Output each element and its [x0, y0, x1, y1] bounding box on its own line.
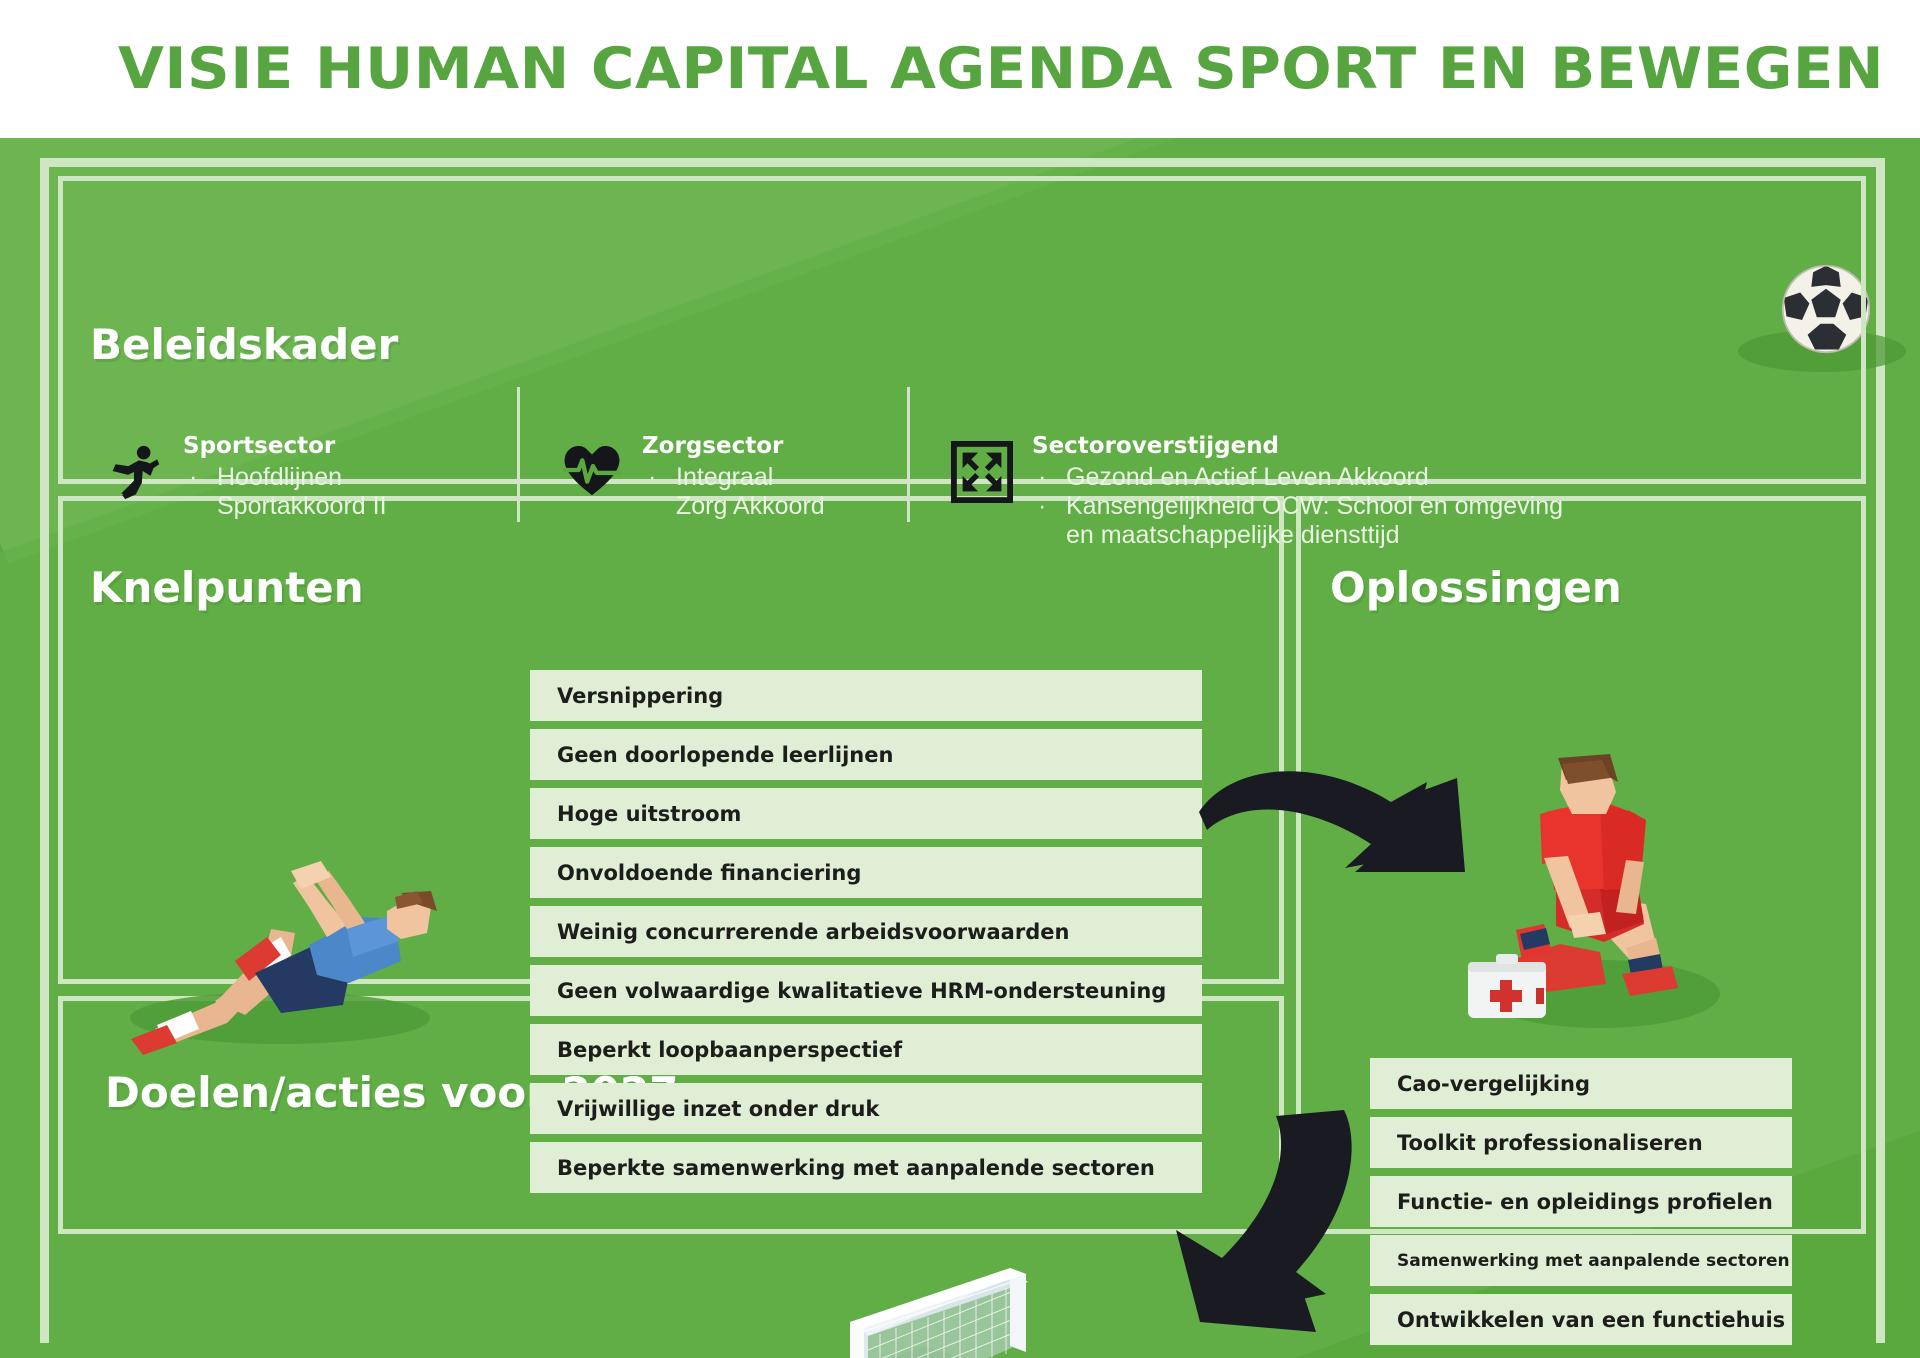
heading-oplossingen: Oplossingen — [1330, 563, 1622, 612]
bullet-dot-icon: · — [1032, 492, 1066, 521]
bullet-dot-icon: · — [1032, 463, 1066, 492]
infographic-page: VISIE HUMAN CAPITAL AGENDA SPORT EN BEWE… — [0, 0, 1920, 1358]
title-bar: VISIE HUMAN CAPITAL AGENDA SPORT EN BEWE… — [0, 0, 1920, 138]
heading-knelpunten: Knelpunten — [90, 563, 364, 612]
sector-bullet-text: Kansengelijkheid OCW: School en omgeving… — [1066, 492, 1563, 550]
oplossing-item[interactable]: Samenwerking met aanpalende sectoren — [1370, 1235, 1792, 1286]
sector-column-zorgsector: Zorgsector · Integraal Zorg Akkoord — [520, 433, 910, 521]
sector-bullet: · Hoofdlijnen Sportakkoord II — [183, 463, 387, 521]
sector-title-sportsector: Sportsector — [183, 433, 387, 459]
sector-column-sportsector: Sportsector · Hoofdlijnen Sportakkoord I… — [95, 433, 520, 521]
sector-bullet: · Integraal Zorg Akkoord — [642, 463, 825, 521]
knelpunt-item[interactable]: Beperkt loopbaanperspectief — [530, 1024, 1202, 1075]
expand-arrows-icon — [944, 441, 1020, 503]
knelpunten-list: Versnippering Geen doorlopende leerlijne… — [530, 670, 1202, 1201]
oplossing-item[interactable]: Cao-vergelijking — [1370, 1058, 1792, 1109]
knelpunt-item[interactable]: Geen volwaardige kwalitatieve HRM-onders… — [530, 965, 1202, 1016]
knelpunt-item[interactable]: Versnippering — [530, 670, 1202, 721]
field-background: Beleidskader Knelpunten Oplossingen Doel… — [0, 138, 1920, 1358]
curved-arrow-down-icon — [1148, 1100, 1398, 1355]
oplossingen-list: Cao-vergelijking Toolkit professionalise… — [1370, 1058, 1792, 1353]
knelpunt-item[interactable]: Geen doorlopende leerlijnen — [530, 729, 1202, 780]
sector-body-sportsector: Sportsector · Hoofdlijnen Sportakkoord I… — [171, 433, 387, 521]
knelpunt-item[interactable]: Onvoldoende financiering — [530, 847, 1202, 898]
knelpunt-item[interactable]: Hoge uitstroom — [530, 788, 1202, 839]
knelpunt-item[interactable]: Vrijwillige inzet onder druk — [530, 1083, 1202, 1134]
oplossing-item[interactable]: Ontwikkelen van een functiehuis — [1370, 1294, 1792, 1345]
sector-column-sectoroverstijgend: Sectoroverstijgend · Gezond en Actief Le… — [910, 433, 1810, 549]
sector-bullet: · Kansengelijkheid OCW: School en omgevi… — [1032, 492, 1563, 550]
sector-bullet: · Gezond en Actief Leven Akkoord — [1032, 463, 1563, 492]
oplossing-item[interactable]: Toolkit professionaliseren — [1370, 1117, 1792, 1168]
heart-pulse-icon — [554, 441, 630, 499]
sector-title-zorgsector: Zorgsector — [642, 433, 825, 459]
athlete-kneeling-with-first-aid-kit-illustration — [1450, 748, 1740, 1053]
sector-title-sectoroverstijgend: Sectoroverstijgend — [1032, 433, 1563, 459]
sector-bullet-text: Hoofdlijnen Sportakkoord II — [217, 463, 387, 521]
sector-body-zorgsector: Zorgsector · Integraal Zorg Akkoord — [630, 433, 825, 521]
sector-body-sectoroverstijgend: Sectoroverstijgend · Gezond en Actief Le… — [1020, 433, 1563, 549]
knelpunt-item[interactable]: Beperkte samenwerking met aanpalende sec… — [530, 1142, 1202, 1193]
soccer-goal-illustration — [828, 1260, 1048, 1358]
bullet-dot-icon: · — [642, 463, 676, 492]
running-person-icon — [95, 441, 171, 503]
page-title: VISIE HUMAN CAPITAL AGENDA SPORT EN BEWE… — [118, 36, 1884, 102]
beleidskader-sectors: Sportsector · Hoofdlijnen Sportakkoord I… — [95, 433, 1855, 563]
sector-bullet-text: Gezond en Actief Leven Akkoord — [1066, 463, 1429, 492]
oplossing-item[interactable]: Functie- en opleidings profielen — [1370, 1176, 1792, 1227]
heading-beleidskader: Beleidskader — [90, 320, 398, 369]
athlete-doing-situps-illustration — [95, 833, 445, 1063]
bullet-dot-icon: · — [183, 463, 217, 492]
knelpunt-item[interactable]: Weinig concurrerende arbeidsvoorwaarden — [530, 906, 1202, 957]
sector-bullet-text: Integraal Zorg Akkoord — [676, 463, 825, 521]
